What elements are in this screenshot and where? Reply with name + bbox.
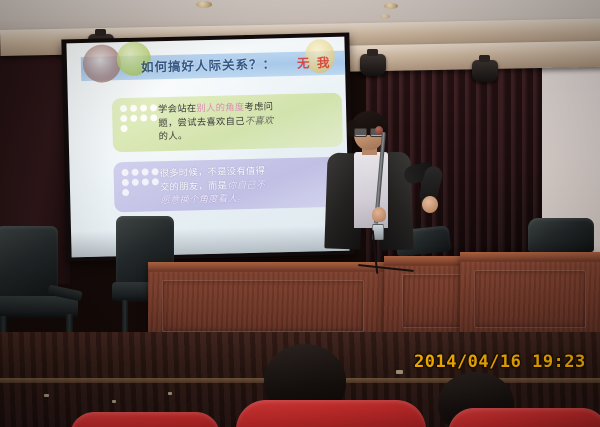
green-line1-a: 学会站在 bbox=[158, 103, 197, 114]
green-line2-italic: 不喜欢 bbox=[245, 115, 274, 126]
green-line1-highlight: 别人的角度 bbox=[196, 102, 244, 113]
bullet-dots-purple bbox=[113, 161, 160, 196]
podium-left bbox=[148, 262, 384, 334]
podium-panel bbox=[162, 280, 364, 332]
projection-screen: 如何搞好人际关系？： 无 我 学会站在别人的角度考虑问 题，尝试去喜欢自己不喜欢… bbox=[61, 33, 354, 262]
projected-slide: 如何搞好人际关系？： 无 我 学会站在别人的角度考虑问 题，尝试去喜欢自己不喜欢… bbox=[66, 37, 349, 258]
audience-chair-center bbox=[236, 400, 426, 427]
slide-title: 如何搞好人际关系？： bbox=[141, 53, 276, 75]
slide-block-green-text: 学会站在别人的角度考虑问 题，尝试去喜欢自己不喜欢 的人。 bbox=[158, 94, 282, 143]
spotlight-3 bbox=[360, 54, 386, 76]
podium-panel-far bbox=[474, 270, 586, 328]
floor-debris-4 bbox=[396, 370, 403, 374]
floor-debris-3 bbox=[168, 392, 172, 395]
spotlight-4 bbox=[472, 60, 498, 82]
audience-chair-left bbox=[70, 412, 220, 427]
slide-block-purple: 很多时候，不是没有值得 交的朋友，而是你自己不 愿意换个角度看人。 bbox=[113, 157, 344, 213]
speaker-figure bbox=[318, 112, 468, 272]
audience-chair-right bbox=[448, 408, 600, 427]
green-line3: 的人。 bbox=[159, 130, 188, 141]
microphone-tip bbox=[375, 126, 383, 135]
microphone-cable-floor bbox=[358, 264, 414, 272]
floor-debris-1 bbox=[44, 394, 49, 397]
purple-line2-a: 交的朋友，而是 bbox=[160, 180, 227, 192]
purple-line1: 很多时候，不是没有值得 bbox=[160, 166, 266, 179]
ceiling-light-2 bbox=[384, 3, 398, 9]
slide-block-purple-text: 很多时候，不是没有值得 交的朋友，而是你自己不 愿意换个角度看人。 bbox=[159, 158, 274, 207]
camera-timestamp: 2014/04/16 19:23 bbox=[414, 352, 586, 372]
green-line2-a: 题，尝试去喜欢自己 bbox=[158, 116, 245, 128]
podium-rail-far bbox=[460, 252, 600, 262]
purple-line2-italic: 你自己不 bbox=[227, 179, 266, 190]
purple-line3-italic: 愿意换个角度看人。 bbox=[160, 193, 247, 205]
slide-block-green: 学会站在别人的角度考虑问 题，尝试去喜欢自己不喜欢 的人。 bbox=[112, 93, 343, 153]
lecture-hall-photo: 如何搞好人际关系？： 无 我 学会站在别人的角度考虑问 题，尝试去喜欢自己不喜欢… bbox=[0, 0, 600, 427]
ceiling-light-1 bbox=[196, 1, 212, 8]
floor-debris-2 bbox=[112, 400, 116, 403]
bullet-dots-green bbox=[112, 97, 159, 132]
speaker-hand-holding-mic bbox=[372, 207, 386, 222]
slide-title-accent: 无 我 bbox=[297, 52, 332, 72]
podium-far-right bbox=[460, 252, 600, 334]
speaker-raised-fist bbox=[422, 196, 438, 213]
ceiling-light-3 bbox=[380, 14, 390, 19]
green-line1-b: 考虑问 bbox=[244, 101, 273, 112]
